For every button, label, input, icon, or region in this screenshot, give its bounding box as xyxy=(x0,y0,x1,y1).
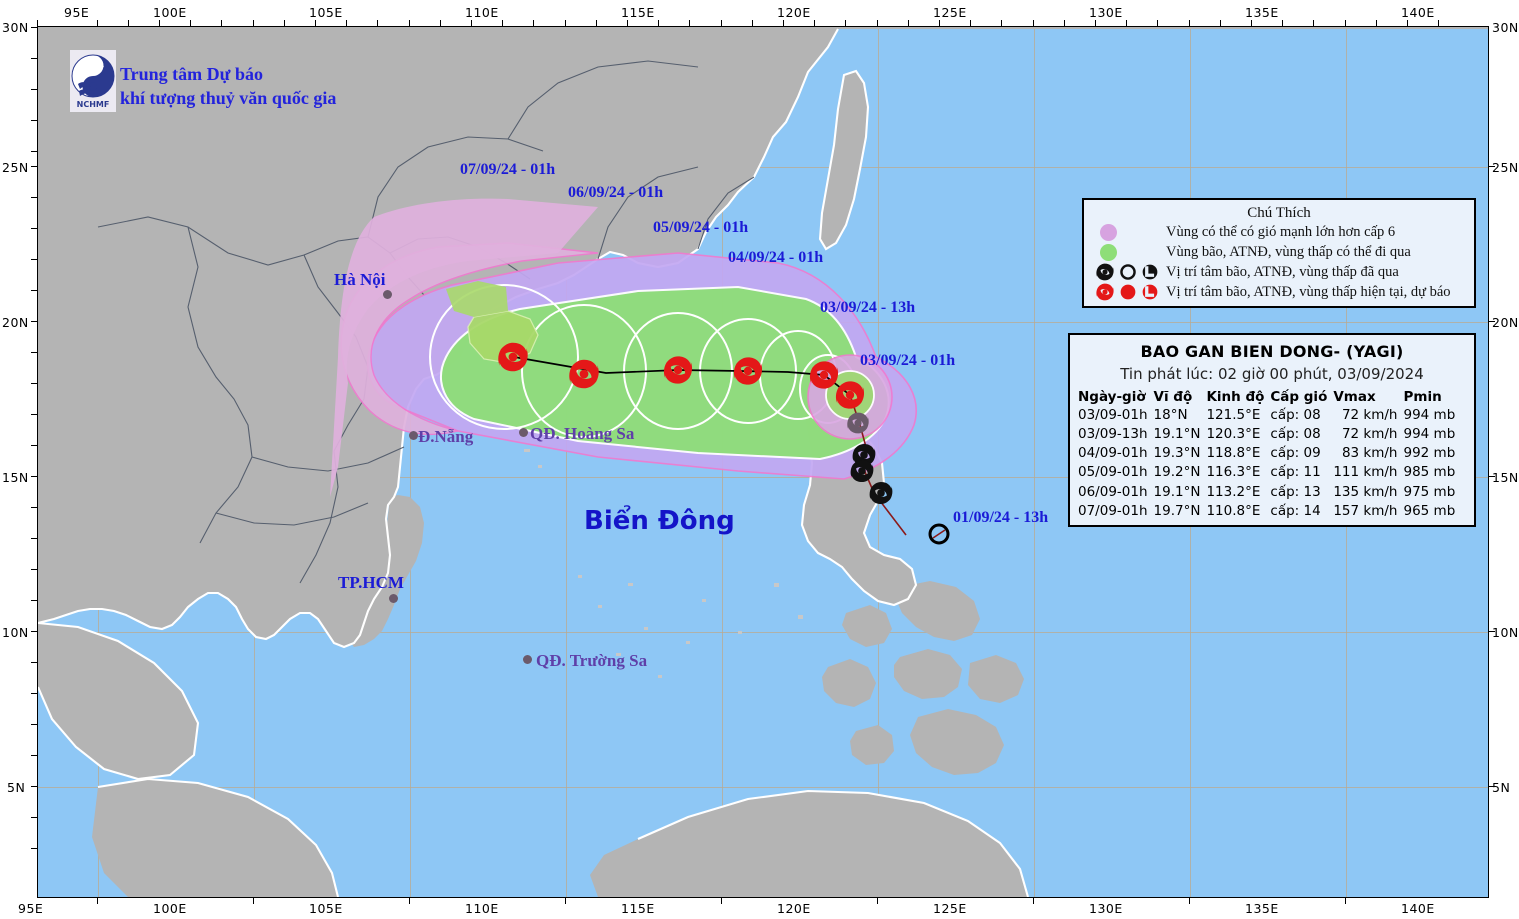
legend-row-track: Vùng bão, ATNĐ, vùng thấp có thể đi qua xyxy=(1092,242,1474,262)
legend-text-current: Vị trí tâm bão, ATNĐ, vùng thấp hiện tại… xyxy=(1166,284,1451,301)
cell-cap: cấp: 09 xyxy=(1268,444,1331,463)
col-header-lat: Vĩ độ xyxy=(1152,389,1205,406)
red-low-icon xyxy=(1141,283,1159,301)
lon-tick-105e-bottom: 105E xyxy=(309,901,343,916)
cell-pmin: 975 mb xyxy=(1401,483,1459,502)
lon-tick-105e-top: 105E xyxy=(309,5,343,20)
cell-lon: 121.5°E xyxy=(1204,406,1268,425)
black-cyclone-icon xyxy=(1095,263,1115,281)
cell-lon: 120.3°E xyxy=(1204,425,1268,444)
lon-tick-140e-bottom: 140E xyxy=(1401,901,1435,916)
cell-time: 03/09-13h xyxy=(1076,425,1152,444)
col-header-cap: Cấp gió xyxy=(1268,389,1331,406)
red-cyclone-icon xyxy=(1095,283,1115,301)
lat-tick-20n-right: 20N xyxy=(1492,315,1519,330)
lat-tick-30n-left: 30N xyxy=(2,20,29,35)
lon-tick-100e-bottom: 100E xyxy=(153,901,187,916)
cell-pmin: 994 mb xyxy=(1401,425,1459,444)
legend-row-past: Vị trí tâm bão, ATNĐ, vùng thấp đã qua xyxy=(1092,262,1474,282)
city-dot-danang xyxy=(409,431,418,440)
cell-pmin: 992 mb xyxy=(1401,444,1459,463)
cell-lon: 113.2°E xyxy=(1204,483,1268,502)
legend-text-track: Vùng bão, ATNĐ, vùng thấp có thể đi qua xyxy=(1166,244,1411,261)
forecast-table: Ngày-giờ Vĩ độ Kinh độ Cấp gió Vmax Pmin… xyxy=(1076,389,1459,521)
cell-cap: cấp: 08 xyxy=(1268,406,1331,425)
lon-tick-135e-top: 135E xyxy=(1245,5,1279,20)
black-open-circle-icon xyxy=(1119,263,1137,281)
lat-tick-25n-right: 25N xyxy=(1492,160,1519,175)
lon-tick-115e-bottom: 115E xyxy=(621,901,655,916)
cell-lat: 19.1°N xyxy=(1152,483,1205,502)
cell-time: 07/09-01h xyxy=(1076,502,1152,521)
col-header-vmax: Vmax xyxy=(1331,389,1401,406)
lon-tick-95e-bottom: 95E xyxy=(18,901,43,916)
forecast-label-0: 07/09/24 - 01h xyxy=(460,161,555,179)
lat-tick-10n-left: 10N xyxy=(2,625,29,640)
city-label-hanoi: Hà Nội xyxy=(334,270,385,290)
col-header-pmin: Pmin xyxy=(1401,389,1459,406)
city-label-hoangsa: QĐ. Hoàng Sa xyxy=(530,424,634,444)
table-row: 05/09-01h 19.2°N 116.3°E cấp: 11 111 km/… xyxy=(1076,463,1459,482)
lat-tick-30n-right: 30N xyxy=(1492,20,1519,35)
lat-tick-25n-left: 25N xyxy=(2,160,29,175)
legend-title: Chú Thích xyxy=(1084,205,1474,222)
lon-tick-120e-top: 120E xyxy=(777,5,811,20)
cell-lon: 118.8°E xyxy=(1204,444,1268,463)
cell-vmax: 157 km/h xyxy=(1331,502,1401,521)
cell-lat: 19.7°N xyxy=(1152,502,1205,521)
cell-time: 04/09-01h xyxy=(1076,444,1152,463)
legend-panel: Chú Thích Vùng có thể có gió mạnh lớn hơ… xyxy=(1082,198,1476,308)
forecast-label-3: 04/09/24 - 01h xyxy=(728,249,823,267)
city-dot-hanoi xyxy=(383,290,392,299)
cell-vmax: 111 km/h xyxy=(1331,463,1401,482)
cell-vmax: 135 km/h xyxy=(1331,483,1401,502)
forecast-label-2: 05/09/24 - 01h xyxy=(653,219,748,237)
lon-tick-135e-bottom: 135E xyxy=(1245,901,1279,916)
black-low-icon xyxy=(1141,263,1159,281)
cell-cap: cấp: 08 xyxy=(1268,425,1331,444)
cell-time: 03/09-01h xyxy=(1076,406,1152,425)
lat-tick-15n-right: 15N xyxy=(1492,470,1519,485)
table-row: 06/09-01h 19.1°N 113.2°E cấp: 13 135 km/… xyxy=(1076,483,1459,502)
city-label-danang: Đ.Nẵng xyxy=(418,427,473,447)
org-name-line2: khí tượng thuỷ văn quốc gia xyxy=(120,86,336,110)
lon-tick-125e-bottom: 125E xyxy=(933,901,967,916)
lon-tick-140e-top: 140E xyxy=(1401,5,1435,20)
lat-tick-5n-left: 5N xyxy=(7,780,25,795)
lon-tick-115e-top: 115E xyxy=(621,5,655,20)
red-filled-circle-icon xyxy=(1119,283,1137,301)
lon-tick-110e-bottom: 110E xyxy=(465,901,499,916)
logo-caption: NCHMF xyxy=(77,100,110,109)
col-header-time: Ngày-giờ xyxy=(1076,389,1152,406)
city-label-tphcm: TP.HCM xyxy=(338,573,404,593)
lat-tick-20n-left: 20N xyxy=(2,315,29,330)
table-row: 04/09-01h 19.3°N 118.8°E cấp: 09 83 km/h… xyxy=(1076,444,1459,463)
cell-cap: cấp: 11 xyxy=(1268,463,1331,482)
org-name: Trung tâm Dự báo khí tượng thuỷ văn quốc… xyxy=(120,62,336,111)
cell-cap: cấp: 14 xyxy=(1268,502,1331,521)
cell-time: 05/09-01h xyxy=(1076,463,1152,482)
lon-tick-100e-top: 100E xyxy=(153,5,187,20)
bulletin-time: Tin phát lúc: 02 giờ 00 phút, 03/09/2024 xyxy=(1070,365,1474,383)
cell-time: 06/09-01h xyxy=(1076,483,1152,502)
cell-lat: 18°N xyxy=(1152,406,1205,425)
cell-lat: 19.1°N xyxy=(1152,425,1205,444)
lon-tick-125e-top: 125E xyxy=(933,5,967,20)
cell-lat: 19.2°N xyxy=(1152,463,1205,482)
org-name-line1: Trung tâm Dự báo xyxy=(120,62,336,86)
green-circle-swatch xyxy=(1100,244,1117,261)
lat-tick-10n-right: 10N xyxy=(1492,625,1519,640)
forecast-label-1: 06/09/24 - 01h xyxy=(568,184,663,202)
cell-lat: 19.3°N xyxy=(1152,444,1205,463)
cell-cap: cấp: 13 xyxy=(1268,483,1331,502)
lon-tick-130e-top: 130E xyxy=(1089,5,1123,20)
table-row: 03/09-01h 18°N 121.5°E cấp: 08 72 km/h 9… xyxy=(1076,406,1459,425)
city-dot-hoangsa xyxy=(519,428,528,437)
cell-pmin: 965 mb xyxy=(1401,502,1459,521)
legend-text-gale: Vùng có thể có gió mạnh lớn hơn cấp 6 xyxy=(1166,224,1395,241)
forecast-label-6: 01/09/24 - 13h xyxy=(953,509,1048,527)
cell-vmax: 83 km/h xyxy=(1331,444,1401,463)
legend-text-past: Vị trí tâm bão, ATNĐ, vùng thấp đã qua xyxy=(1166,264,1399,281)
violet-circle-swatch xyxy=(1100,224,1117,241)
lon-tick-110e-top: 110E xyxy=(465,5,499,20)
sea-label-bien-dong: Biển Đông xyxy=(584,506,735,536)
lat-tick-5n-right: 5N xyxy=(1492,780,1510,795)
city-dot-truongsa xyxy=(523,655,532,664)
table-row: 03/09-13h 19.1°N 120.3°E cấp: 08 72 km/h… xyxy=(1076,425,1459,444)
legend-row-gale: Vùng có thể có gió mạnh lớn hơn cấp 6 xyxy=(1092,222,1474,242)
cell-pmin: 994 mb xyxy=(1401,406,1459,425)
storm-info-panel: BAO GAN BIEN DONG- (YAGI) Tin phát lúc: … xyxy=(1068,333,1476,527)
cell-vmax: 72 km/h xyxy=(1331,406,1401,425)
cell-vmax: 72 km/h xyxy=(1331,425,1401,444)
lon-tick-95e-top: 95E xyxy=(64,5,89,20)
lat-tick-15n-left: 15N xyxy=(2,470,29,485)
lon-tick-130e-bottom: 130E xyxy=(1089,901,1123,916)
table-row: 07/09-01h 19.7°N 110.8°E cấp: 14 157 km/… xyxy=(1076,502,1459,521)
forecast-label-4: 03/09/24 - 13h xyxy=(820,299,915,317)
nchmf-logo-icon: NCHMF xyxy=(70,50,116,112)
cell-lon: 110.8°E xyxy=(1204,502,1268,521)
cell-pmin: 985 mb xyxy=(1401,463,1459,482)
typhoon-forecast-map-page: 07/09/24 - 01h 06/09/24 - 01h 05/09/24 -… xyxy=(0,0,1519,919)
city-label-truongsa: QĐ. Trường Sa xyxy=(536,651,647,671)
storm-title: BAO GAN BIEN DONG- (YAGI) xyxy=(1070,342,1474,361)
col-header-lon: Kinh độ xyxy=(1204,389,1268,406)
table-header-row: Ngày-giờ Vĩ độ Kinh độ Cấp gió Vmax Pmin xyxy=(1076,389,1459,406)
cell-lon: 116.3°E xyxy=(1204,463,1268,482)
legend-row-current: Vị trí tâm bão, ATNĐ, vùng thấp hiện tại… xyxy=(1092,282,1474,302)
forecast-label-5: 03/09/24 - 01h xyxy=(860,352,955,370)
lon-tick-120e-bottom: 120E xyxy=(777,901,811,916)
city-dot-tphcm xyxy=(389,594,398,603)
